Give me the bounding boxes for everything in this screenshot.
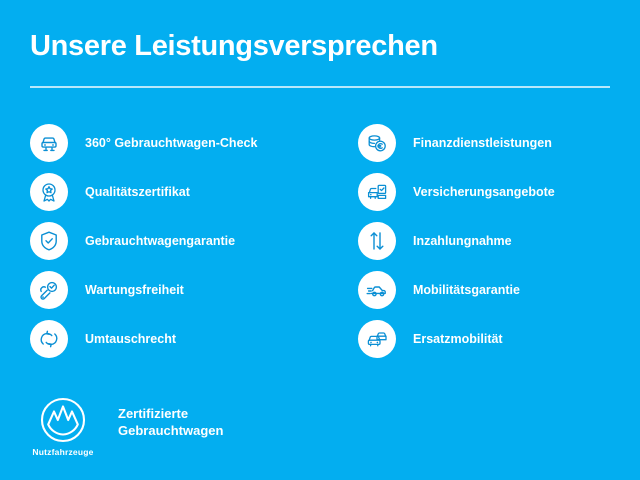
promise-label: Ersatzmobilität [413,331,503,347]
car-inspection-icon [30,124,68,162]
promises-left-column: 360° Gebrauchtwagen-Check Qualitätszerti… [0,118,330,363]
promise-item-inzahlungnahme[interactable]: Inzahlungnahme [358,216,640,265]
promises-columns: 360° Gebrauchtwagen-Check Qualitätszerti… [0,118,640,363]
two-cars-icon [358,320,396,358]
coins-euro-icon [358,124,396,162]
promise-item-umtauschrecht[interactable]: Umtauschrecht [30,314,330,363]
header: Unsere Leistungsversprechen [30,28,610,64]
promise-label: Finanzdienstleistungen [413,135,552,151]
up-down-arrows-icon [358,222,396,260]
vw-logo-icon [39,396,87,444]
promise-item-ersatzmobilitaet[interactable]: Ersatzmobilität [358,314,640,363]
brand-footer: Nutzfahrzeuge Zertifizierte Gebrauchtwag… [30,396,223,457]
brand-mark: Nutzfahrzeuge [30,396,96,457]
shield-check-icon [30,222,68,260]
promise-label: Qualitätszertifikat [85,184,190,200]
promise-item-finanzdienstleistungen[interactable]: Finanzdienstleistungen [358,118,640,167]
header-divider [30,86,610,88]
promises-panel: Unsere Leistungsversprechen 360° Gebrauc… [0,0,640,480]
promises-right-column: Finanzdienstleistungen Versicherungsange… [330,118,640,363]
car-motion-icon [358,271,396,309]
promise-item-wartungsfreiheit[interactable]: Wartungsfreiheit [30,265,330,314]
promise-item-gebrauchtwagengarantie[interactable]: Gebrauchtwagengarantie [30,216,330,265]
exchange-arrows-icon [30,320,68,358]
award-rosette-icon [30,173,68,211]
brand-text: Zertifizierte Gebrauchtwagen [118,405,223,439]
brand-sub-label: Nutzfahrzeuge [32,447,93,457]
promise-item-qualitaetszertifikat[interactable]: Qualitätszertifikat [30,167,330,216]
car-document-icon [358,173,396,211]
wrench-check-icon [30,271,68,309]
promise-item-mobilitaetsgarantie[interactable]: Mobilitätsgarantie [358,265,640,314]
promise-item-versicherungsangebote[interactable]: Versicherungsangebote [358,167,640,216]
promise-label: Wartungsfreiheit [85,282,184,298]
page-title: Unsere Leistungsversprechen [30,28,610,64]
promise-item-gebrauchtwagen-check[interactable]: 360° Gebrauchtwagen-Check [30,118,330,167]
promise-label: Umtauschrecht [85,331,176,347]
promise-label: Inzahlungnahme [413,233,512,249]
brand-text-line2: Gebrauchtwagen [118,422,223,439]
brand-text-line1: Zertifizierte [118,405,223,422]
promise-label: Gebrauchtwagengarantie [85,233,235,249]
promise-label: Versicherungsangebote [413,184,555,200]
promise-label: Mobilitätsgarantie [413,282,520,298]
promise-label: 360° Gebrauchtwagen-Check [85,135,257,151]
